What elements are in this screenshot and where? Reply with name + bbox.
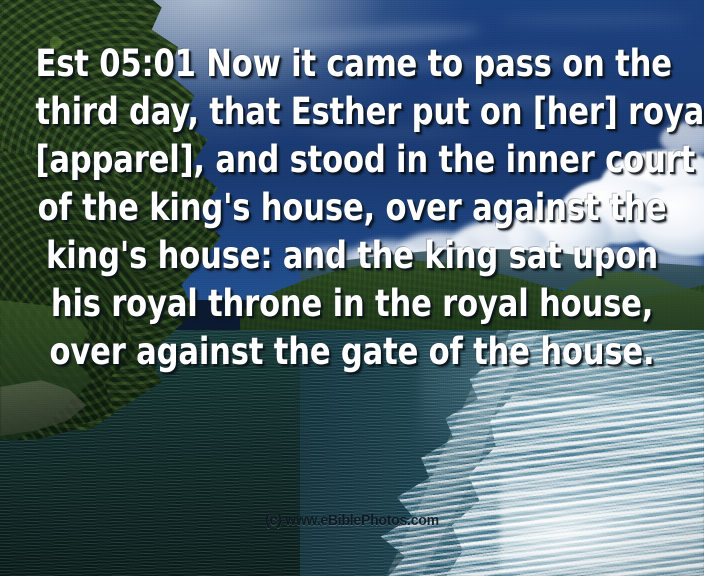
boat-wake-core [430, 396, 704, 576]
verse-line: Est 05:01 Now it came to pass on the [36, 40, 669, 88]
verse-line: third day, that Esther put on [her] roya… [36, 88, 669, 136]
watermark: (c) www.eBiblePhotos.com [21, 512, 683, 529]
verse-line: his royal throne in the royal house, [36, 280, 669, 328]
verse-line: of the king's house, over against the [36, 184, 669, 232]
verse-line: [apparel], and stood in the inner court [36, 136, 669, 184]
verse-line: king's house: and the king sat upon [36, 232, 669, 280]
shore-rock [0, 380, 120, 450]
verse-image: Est 05:01 Now it came to pass on the thi… [0, 0, 704, 576]
cirrus-cloud [500, 14, 690, 26]
verse-line: over against the gate of the house. [36, 328, 669, 376]
verse-text-block: Est 05:01 Now it came to pass on the thi… [0, 40, 704, 376]
